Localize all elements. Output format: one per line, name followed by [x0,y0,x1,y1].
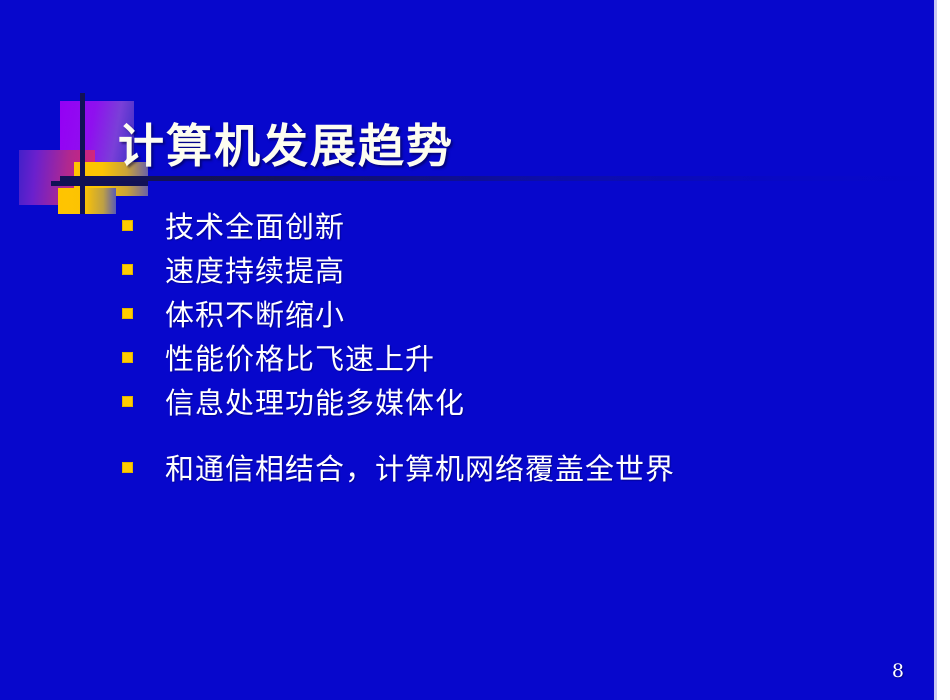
logo-vertical-line-icon [80,93,85,214]
list-item-label: 和通信相结合，计算机网络覆盖全世界 [165,448,902,490]
list-item: 速度持续提高 [122,250,902,294]
slide-title-container: 计算机发展趋势 [118,117,878,175]
list-item: 技术全面创新 [122,206,902,250]
list-item-label: 技术全面创新 [165,206,902,248]
bullet-square-icon [122,462,133,473]
slide-bullet-list: 技术全面创新 速度持续提高 体积不断缩小 性能价格比飞速上升 信息处理功能多媒体… [122,206,902,492]
page-title: 计算机发展趋势 [118,117,878,175]
logo-gold-small-square-icon [58,188,116,214]
list-item: 性能价格比飞速上升 [122,338,902,382]
list-item-label: 体积不断缩小 [165,294,902,336]
bullet-square-icon [122,220,133,231]
bullet-square-icon [122,396,133,407]
list-item: 体积不断缩小 [122,294,902,338]
logo-horizontal-line-icon [51,181,148,186]
bullet-square-icon [122,352,133,363]
slide-canvas: 计算机发展趋势 技术全面创新 速度持续提高 体积不断缩小 性能价格比飞速上升 [0,0,934,700]
list-item-label: 速度持续提高 [165,250,902,292]
list-item-label: 信息处理功能多媒体化 [165,382,902,424]
list-item: 信息处理功能多媒体化 [122,382,902,426]
title-underline-divider [60,176,934,181]
presentation-slide: 计算机发展趋势 技术全面创新 速度持续提高 体积不断缩小 性能价格比飞速上升 [0,0,950,700]
list-item-label: 性能价格比飞速上升 [165,338,902,380]
slide-right-edge-divider [934,0,937,700]
list-item: 和通信相结合，计算机网络覆盖全世界 [122,448,902,492]
bullet-square-icon [122,264,133,275]
slide-page-number: 8 [892,660,904,682]
bullet-square-icon [122,308,133,319]
